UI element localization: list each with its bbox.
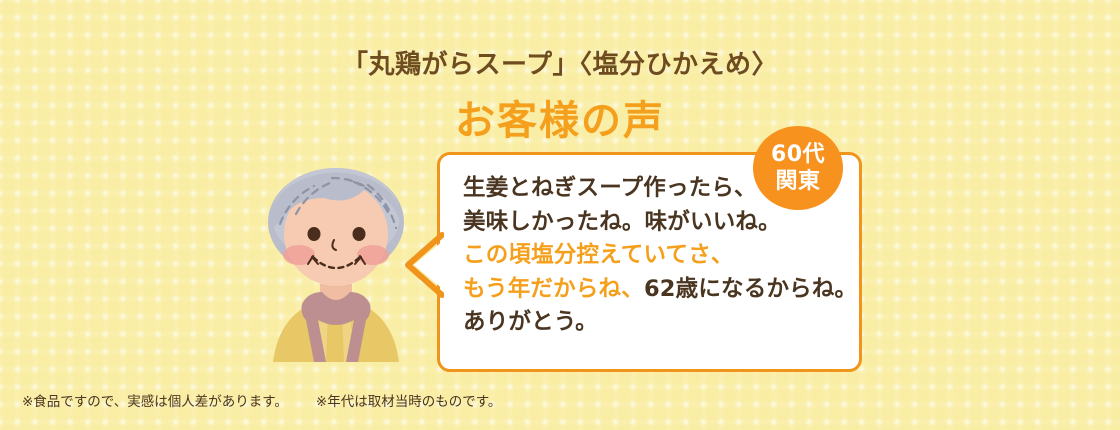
badge-age: 60代 <box>771 141 825 168</box>
disclaimer-note-1: ※食品ですので、実感は個人差があります。 <box>22 390 288 410</box>
testimonial-line-5: ありがとう。 <box>463 306 853 340</box>
elderly-woman-illustration <box>246 158 426 363</box>
testimonial-line-2: 美味しかったね。味がいいね。 <box>463 206 853 240</box>
testimonial-line-4: もう年だからね、62歳になるからね。 <box>463 273 853 307</box>
eye-left <box>308 227 321 241</box>
bubble-tail <box>404 232 444 298</box>
testimonial-line-4-accent: もう年だからね、 <box>463 276 644 302</box>
testimonial-line-4-plain: 62歳になるからね。 <box>644 276 857 302</box>
promo-banner: 「丸鶏がらスープ」〈塩分ひかえめ〉 お客様の声 <box>0 0 1120 430</box>
footer-notes: ※食品ですので、実感は個人差があります。 ※年代は取材当時のものです。 <box>22 390 501 410</box>
badge-region: 関東 <box>775 168 820 195</box>
testimonial-line-3: この頃塩分控えていてさ、 <box>463 239 853 273</box>
age-region-badge: 60代 関東 <box>753 126 843 210</box>
cheek-right <box>357 245 389 265</box>
disclaimer-note-2: ※年代は取材当時のものです。 <box>316 390 501 410</box>
page-title: お客様の声 <box>0 88 1120 146</box>
product-subtitle: 「丸鶏がらスープ」〈塩分ひかえめ〉 <box>0 44 1120 81</box>
eye-right <box>353 227 366 241</box>
